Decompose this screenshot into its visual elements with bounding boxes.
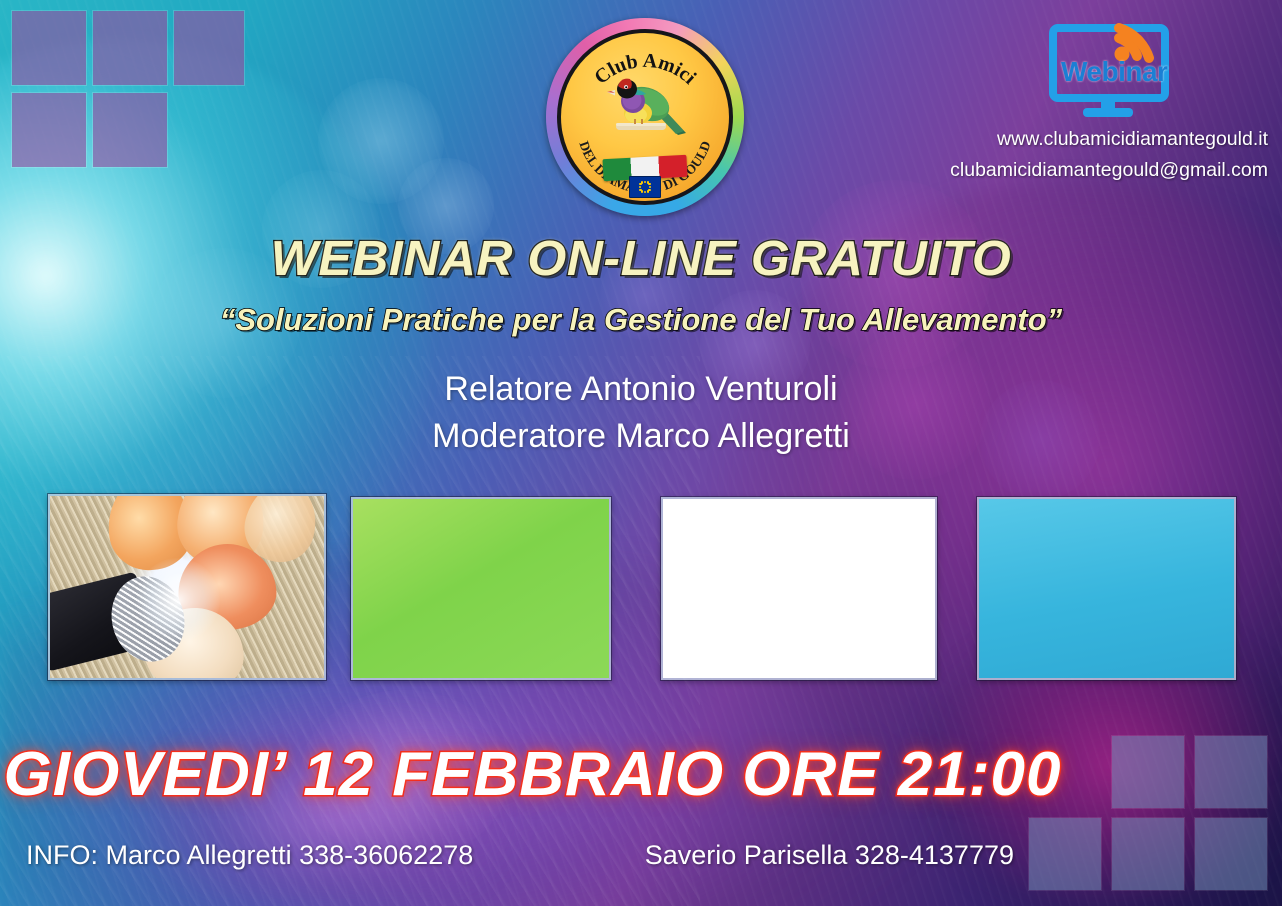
eu-star-icon bbox=[639, 189, 641, 191]
decor-square-top-left bbox=[12, 11, 86, 85]
website-text: www.clubamicidiamantegould.it bbox=[997, 128, 1268, 151]
eu-star-icon bbox=[649, 186, 651, 188]
footer-info-left: INFO: Marco Allegretti 338-36062278 bbox=[26, 840, 473, 871]
eu-star-icon bbox=[647, 190, 649, 192]
logo-gold-face: Club Amici DEL DIAMANTE DI GOULD bbox=[561, 33, 729, 201]
email-text: clubamicidiamantegould@gmail.com bbox=[950, 159, 1268, 182]
poster-canvas: Club Amici DEL DIAMANTE DI GOULD bbox=[0, 0, 1282, 906]
moderator-name: Moderatore Marco Allegretti bbox=[0, 417, 1282, 456]
decor-square-bottom-right bbox=[1195, 818, 1267, 890]
footer-contact-row: INFO: Marco Allegretti 338-36062278 Save… bbox=[0, 840, 1040, 871]
page-subtitle: “Soluzioni Pratiche per la Gestione del … bbox=[0, 302, 1282, 338]
gouldian-finch-icon bbox=[602, 71, 688, 149]
eu-flag-icon bbox=[629, 176, 661, 198]
decor-square-top-left bbox=[93, 93, 167, 167]
footer-info-right: Saverio Parisella 328-4137779 bbox=[645, 840, 1014, 871]
eu-star-icon bbox=[648, 189, 650, 191]
decor-square-top-left bbox=[174, 11, 244, 85]
decor-square-top-left bbox=[12, 93, 86, 167]
event-date-time: GIOVEDI’ 12 FEBBRAIO ORE 21:00 bbox=[0, 739, 1065, 810]
club-logo: Club Amici DEL DIAMANTE DI GOULD bbox=[546, 18, 744, 216]
eu-star-icon bbox=[644, 191, 646, 193]
webinar-label: Webinar bbox=[1061, 56, 1167, 88]
decor-square-bottom-right bbox=[1112, 736, 1184, 808]
eu-star-icon bbox=[639, 186, 641, 188]
page-title: WEBINAR ON-LINE GRATUITO bbox=[0, 231, 1282, 287]
eu-star-icon bbox=[644, 181, 646, 183]
decor-square-bottom-right bbox=[1112, 818, 1184, 890]
decor-square-top-left bbox=[93, 11, 167, 85]
speaker-name: Relatore Antonio Venturoli bbox=[0, 370, 1282, 409]
photo-eggs-candling bbox=[48, 494, 326, 680]
photo-nest-box bbox=[661, 497, 937, 680]
decor-square-bottom-right bbox=[1195, 736, 1267, 808]
photo-gouldian-purple-breast bbox=[351, 497, 611, 680]
webinar-badge: Webinar bbox=[1045, 12, 1195, 117]
photo-gouldian-red-head bbox=[977, 497, 1236, 680]
